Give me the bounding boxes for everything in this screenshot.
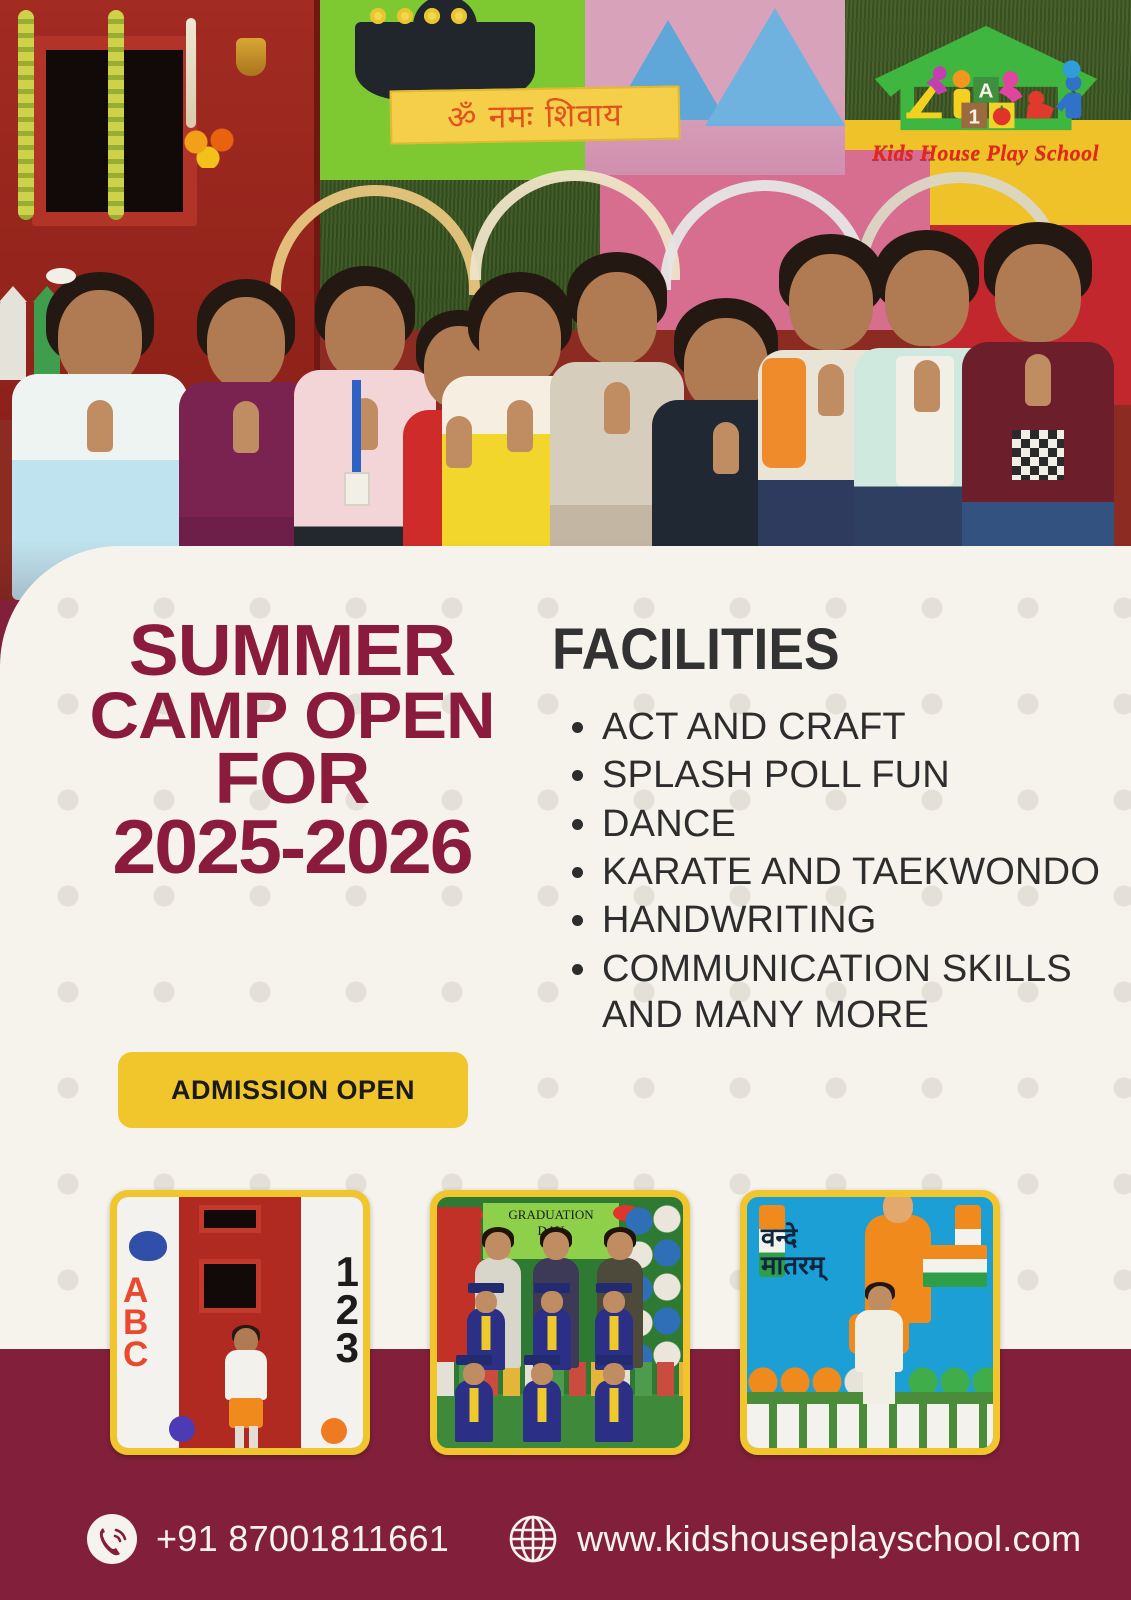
poster-root: ॐ नमः शिवाय: [0, 0, 1131, 1600]
list-item: SPLASH POLL FUN: [566, 752, 1126, 798]
headline-line-4: 2025-2026: [58, 813, 526, 884]
picket-fence-decor: [747, 1404, 993, 1448]
svg-text:1: 1: [968, 105, 979, 128]
website-contact[interactable]: www.kidshouseplayschool.com: [507, 1513, 1081, 1565]
headline-line-1: SUMMER: [58, 618, 526, 685]
svg-text:A: A: [978, 80, 993, 103]
facilities-heading: FACILITIES: [552, 616, 840, 683]
school-name-text: Kids House Play School: [858, 140, 1113, 166]
list-item: COMMUNICATION SKILLS AND MANY MORE: [566, 946, 1126, 1039]
footer-contact-bar: +91 87001811661 www.kidshouseplayschool.…: [0, 1478, 1131, 1600]
photo-gallery: ABC 123 GRADUATIONDAY: [0, 1190, 1131, 1465]
indian-flag-icon: [923, 1245, 987, 1287]
list-item: ACT AND CRAFT: [566, 704, 1126, 750]
hair-bow-icon: [46, 268, 76, 284]
list-item: HANDWRITING: [566, 897, 1126, 943]
house-logo-icon: A 1: [858, 22, 1113, 140]
123-numbers: 123: [336, 1253, 359, 1366]
page-title: SUMMER CAMP OPEN FOR 2025-2026: [58, 618, 526, 884]
phone-number: +91 87001811661: [156, 1518, 449, 1560]
headline-line-2: CAMP OPEN: [58, 685, 526, 746]
gallery-photo-graduation-day[interactable]: GRADUATIONDAY: [430, 1190, 690, 1455]
marigold-flowers: [182, 128, 242, 168]
abc-letters: ABC: [123, 1275, 148, 1372]
garland-icon: [18, 10, 34, 220]
globe-icon: [507, 1513, 559, 1565]
om-namah-shivay-banner: ॐ नमः शिवाय: [390, 85, 681, 144]
admission-open-button[interactable]: ADMISSION OPEN: [118, 1052, 468, 1128]
headline-line-3: FOR: [58, 746, 526, 813]
flower-decor-row: [370, 8, 467, 24]
facilities-list: ACT AND CRAFT SPLASH POLL FUN DANCE KARA…: [566, 704, 1126, 1041]
website-url: www.kidshouseplayschool.com: [577, 1518, 1081, 1560]
gallery-photo-abc-123-door[interactable]: ABC 123: [110, 1190, 370, 1455]
list-item: DANCE: [566, 801, 1126, 847]
vande-mataram-text: वन्देमातरम्: [761, 1225, 869, 1280]
phone-call-icon: [86, 1513, 138, 1565]
phone-contact[interactable]: +91 87001811661: [86, 1513, 449, 1565]
temple-bell-icon: [236, 38, 266, 76]
school-logo[interactable]: A 1 Kids House Play School: [858, 22, 1113, 177]
gallery-photo-independence-day[interactable]: वन्देमातरम्: [740, 1190, 1000, 1455]
list-item: KARATE AND TAEKWONDO: [566, 849, 1126, 895]
garland-icon: [108, 10, 124, 220]
child-figure: [855, 1286, 903, 1414]
paint-palette-icon: [129, 1231, 167, 1261]
tassel-decor: [186, 18, 196, 128]
